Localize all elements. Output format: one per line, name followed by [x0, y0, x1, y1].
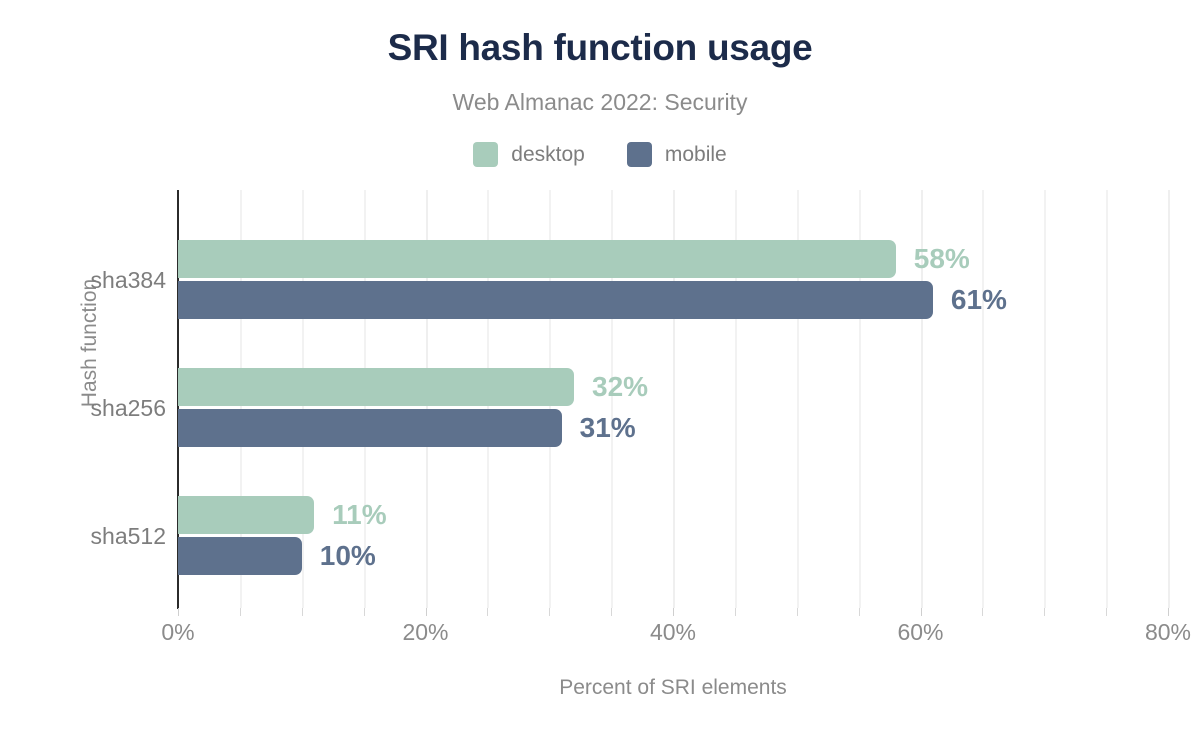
- x-axis-title: Percent of SRI elements: [178, 676, 1168, 700]
- legend-label-mobile: mobile: [665, 143, 727, 167]
- x-axis-tick: [1168, 608, 1169, 616]
- x-axis-tick: [364, 608, 365, 616]
- chart-subtitle: Web Almanac 2022: Security: [0, 90, 1200, 115]
- bar-mobile-sha512[interactable]: [178, 537, 302, 575]
- x-axis-tick: [240, 608, 241, 616]
- plot-area: 58%61%32%31%11%10%: [178, 190, 1168, 608]
- x-axis-tick-label: 60%: [861, 617, 981, 647]
- bar-desktop-sha256[interactable]: [178, 368, 574, 406]
- chart-container: SRI hash function usage Web Almanac 2022…: [0, 0, 1200, 742]
- x-axis-tick: [1044, 608, 1045, 616]
- bar-desktop-sha512[interactable]: [178, 496, 314, 534]
- x-axis-tick-label: 40%: [613, 617, 733, 647]
- x-axis-tick: [611, 608, 612, 616]
- x-axis-tick: [797, 608, 798, 616]
- x-axis-tick: [487, 608, 488, 616]
- x-axis-tick-label: 20%: [366, 617, 486, 647]
- x-axis-tick: [735, 608, 736, 616]
- legend-swatch-mobile: [627, 142, 652, 167]
- y-axis-category-label-sha384: sha384: [0, 265, 166, 295]
- y-axis-category-label-sha512: sha512: [0, 521, 166, 551]
- bar-value-label: 61%: [951, 281, 1007, 319]
- x-axis-tick-label: 0%: [118, 617, 238, 647]
- bar-value-label: 31%: [580, 409, 636, 447]
- bar-value-label: 58%: [914, 240, 970, 278]
- legend-item-desktop[interactable]: desktop: [473, 142, 585, 167]
- chart-legend: desktop mobile: [0, 142, 1200, 167]
- legend-label-desktop: desktop: [511, 143, 585, 167]
- x-axis-tick-label: 80%: [1108, 617, 1200, 647]
- gridline: [1168, 190, 1170, 608]
- x-axis-tick: [302, 608, 303, 616]
- x-axis-tick: [673, 608, 674, 616]
- x-axis-tick: [921, 608, 922, 616]
- gridline: [982, 190, 984, 608]
- bar-value-label: 10%: [320, 537, 376, 575]
- x-axis-tick: [178, 608, 179, 616]
- legend-swatch-desktop: [473, 142, 498, 167]
- bar-value-label: 32%: [592, 368, 648, 406]
- bar-mobile-sha384[interactable]: [178, 281, 933, 319]
- gridline: [1044, 190, 1046, 608]
- chart-title: SRI hash function usage: [0, 28, 1200, 69]
- bar-desktop-sha384[interactable]: [178, 240, 896, 278]
- legend-item-mobile[interactable]: mobile: [627, 142, 727, 167]
- gridline: [1106, 190, 1108, 608]
- bar-mobile-sha256[interactable]: [178, 409, 562, 447]
- x-axis-tick: [859, 608, 860, 616]
- x-axis-tick: [549, 608, 550, 616]
- bar-value-label: 11%: [332, 496, 387, 534]
- y-axis-category-label-sha256: sha256: [0, 393, 166, 423]
- x-axis-tick: [1106, 608, 1107, 616]
- x-axis-tick: [982, 608, 983, 616]
- x-axis-tick: [426, 608, 427, 616]
